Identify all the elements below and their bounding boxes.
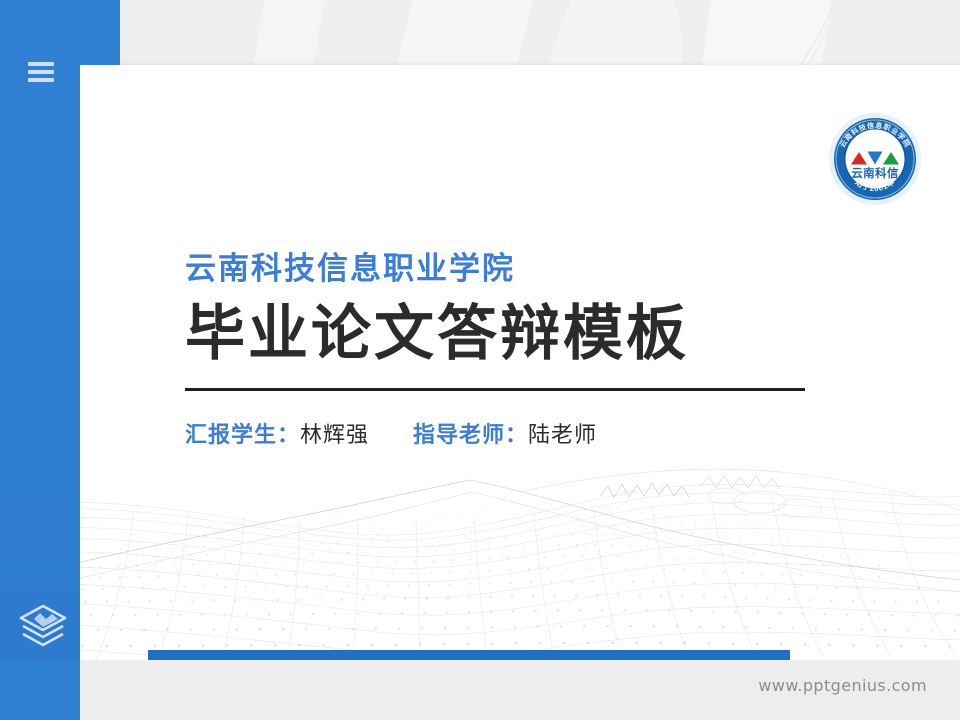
credit-value: 陆老师 [528,423,597,448]
menu-bar [28,70,54,74]
credit-label: 汇报学生： [185,423,300,448]
credits-row: 汇报学生：林辉强 指导老师：陆老师 [185,417,825,449]
menu-bar [28,62,54,66]
hamburger-menu-icon[interactable] [28,62,54,82]
footer-rail-block [0,660,80,720]
title-divider [185,388,805,391]
title-block: 云南科技信息职业学院 毕业论文答辩模板 汇报学生：林辉强 指导老师：陆老师 [185,250,825,449]
credit-label: 指导老师： [413,423,528,448]
page-title: 毕业论文答辩模板 [185,301,825,368]
layers-stack-icon[interactable] [17,600,69,652]
slide-canvas: 云南科技信息职业学院 始于2001年 云南科信 云南科技信息职业学院 毕业论文答… [0,0,960,720]
school-name: 云南科技信息职业学院 [185,250,825,289]
credit-student: 汇报学生：林辉强 [185,417,369,449]
institution-logo: 云南科技信息职业学院 始于2001年 云南科信 [826,110,924,208]
credit-value: 林辉强 [300,423,369,448]
footer-url: www.pptgenius.com [758,676,927,695]
menu-bar [28,78,54,82]
credit-advisor: 指导老师：陆老师 [413,417,597,449]
logo-center-text: 云南科信 [851,166,899,180]
left-rail [0,0,80,660]
